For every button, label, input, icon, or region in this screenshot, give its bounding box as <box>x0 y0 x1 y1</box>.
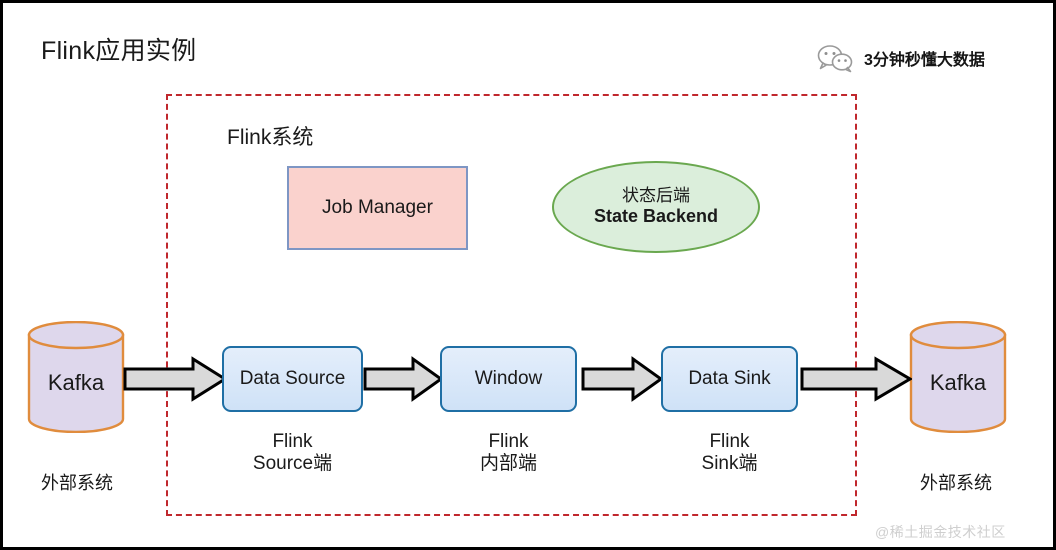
kafka-source-label: Kafka <box>48 370 105 395</box>
state-backend-label-cn: 状态后端 <box>622 186 690 206</box>
stage-box-data-source: Data Source <box>222 346 363 412</box>
state-backend-label-en: State Backend <box>594 206 718 228</box>
state-backend-ellipse: 状态后端 State Backend <box>552 161 760 253</box>
diagram-canvas: Flink应用实例 3分钟秒懂大数据 Flink系统 Job Manager 状… <box>0 0 1056 550</box>
stage-caption-line2: Source端 <box>222 453 363 475</box>
flink-system-label: Flink系统 <box>227 121 313 151</box>
arrow-source-to-window <box>363 356 443 402</box>
arrow-sink-to-kafka <box>800 356 912 402</box>
page-title: Flink应用实例 <box>41 31 196 67</box>
brand-badge: 3分钟秒懂大数据 <box>815 43 985 73</box>
stage-caption-line1: Flink <box>440 431 577 453</box>
wechat-icon <box>815 43 855 73</box>
arrow-kafka-to-source <box>123 356 227 402</box>
brand-label: 3分钟秒懂大数据 <box>864 46 985 70</box>
stage-caption-line2: 内部端 <box>440 453 577 475</box>
stage-caption-data-sink: Flink Sink端 <box>661 431 798 476</box>
stage-caption-window: Flink 内部端 <box>440 431 577 476</box>
kafka-sink-cylinder: Kafka <box>909 321 1007 433</box>
stage-label-data-source: Data Source <box>240 368 346 390</box>
stage-caption-line1: Flink <box>661 431 798 453</box>
watermark: @稀土掘金技术社区 <box>875 522 1006 542</box>
kafka-sink-label: Kafka <box>930 370 987 395</box>
stage-label-data-sink: Data Sink <box>688 368 770 390</box>
job-manager-label: Job Manager <box>322 197 433 219</box>
arrow-window-to-sink <box>581 356 663 402</box>
stage-box-window: Window <box>440 346 577 412</box>
stage-caption-line1: Flink <box>222 431 363 453</box>
stage-caption-line2: Sink端 <box>661 453 798 475</box>
external-system-label-right: 外部系统 <box>906 469 1006 495</box>
stage-caption-data-source: Flink Source端 <box>222 431 363 476</box>
stage-label-window: Window <box>475 368 543 390</box>
external-system-label-left: 外部系统 <box>27 469 127 495</box>
stage-box-data-sink: Data Sink <box>661 346 798 412</box>
kafka-source-cylinder: Kafka <box>27 321 125 433</box>
job-manager-box: Job Manager <box>287 166 468 250</box>
